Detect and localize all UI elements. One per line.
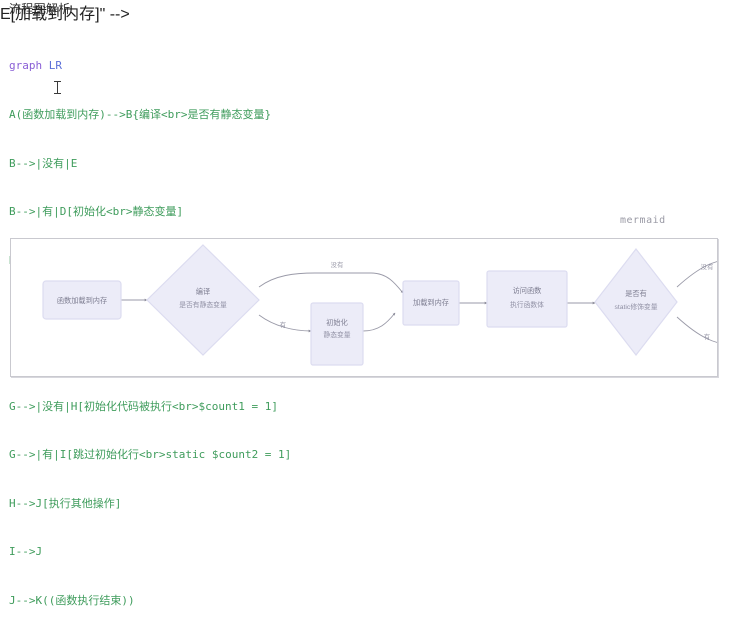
flow-node-d-label-2: 静态变量 bbox=[323, 330, 350, 339]
code-line-2: B-->|没有|E bbox=[9, 156, 549, 172]
code-line-1: A(函数加载到内存)-->B{编译<br>是否有静态变量} bbox=[9, 107, 549, 123]
code-line-3: B-->|有|D[初始化<br>静态变量] bbox=[9, 204, 549, 220]
code-line-9: H-->J[执行其他操作] bbox=[9, 496, 549, 512]
flow-node-b-label-2: 是否有静态变量 bbox=[179, 300, 227, 309]
flow-node-a-label: 函数加载到内存 bbox=[57, 296, 107, 305]
mermaid-diagram-frame[interactable]: 函数加载到内存 编译 是否有静态变量 初始化 静态变量 加载到内存 bbox=[10, 238, 718, 377]
page-title: 流程图解析 bbox=[9, 1, 71, 17]
code-line-7: G-->|没有|H[初始化代码被执行<br>$count1 = 1] bbox=[9, 399, 549, 415]
flow-node-e[interactable]: 加载到内存 bbox=[403, 281, 459, 325]
flow-node-g-label-2: static修饰变量 bbox=[614, 302, 657, 311]
edge-g-i-yes bbox=[677, 317, 717, 345]
flow-node-f[interactable]: 访问函数 执行函数体 bbox=[487, 271, 567, 327]
edge-label-b-none: 没有 bbox=[331, 260, 344, 269]
page-root: 流程图解析 graph LR A(函数加载到内存)-->B{编译<br>是否有静… bbox=[0, 0, 734, 400]
code-keyword-graph: graph bbox=[9, 59, 42, 72]
code-line-8: G-->|有|I[跳过初始化行<br>static $count2 = 1] bbox=[9, 447, 549, 463]
code-line-10: I-->J bbox=[9, 544, 549, 560]
edge-label-g-none: 没有 bbox=[701, 262, 714, 271]
flow-node-f-label-1: 访问函数 bbox=[513, 286, 542, 295]
flow-node-g-label-1: 是否有 bbox=[625, 289, 647, 298]
flow-node-g[interactable]: 是否有 static修饰变量 bbox=[595, 249, 677, 355]
text-cursor-ibeam bbox=[57, 81, 58, 94]
flow-node-d[interactable]: 初始化 静态变量 bbox=[311, 303, 363, 365]
flow-node-e-label: 加载到内存 bbox=[413, 298, 449, 307]
flow-node-a[interactable]: 函数加载到内存 bbox=[43, 281, 121, 319]
edge-label-b-yes: 有 bbox=[280, 320, 286, 329]
code-line-11: J-->K((函数执行结束)) bbox=[9, 593, 549, 609]
edge-label-g-yes: 有 bbox=[704, 332, 710, 341]
flow-node-d-label-1: 初始化 bbox=[326, 318, 348, 327]
edge-b-e-none bbox=[259, 273, 403, 293]
flow-node-b[interactable]: 编译 是否有静态变量 bbox=[147, 245, 259, 355]
flow-node-b-label-1: 编译 bbox=[196, 287, 210, 296]
code-line-0: graph LR bbox=[9, 58, 549, 74]
flowchart-svg: 函数加载到内存 编译 是否有静态变量 初始化 静态变量 加载到内存 bbox=[11, 239, 717, 376]
mermaid-language-label: mermaid bbox=[620, 215, 666, 226]
flow-node-f-label-2: 执行函数体 bbox=[510, 300, 544, 309]
edge-d-e bbox=[363, 313, 395, 331]
code-keyword-direction: LR bbox=[49, 59, 62, 72]
